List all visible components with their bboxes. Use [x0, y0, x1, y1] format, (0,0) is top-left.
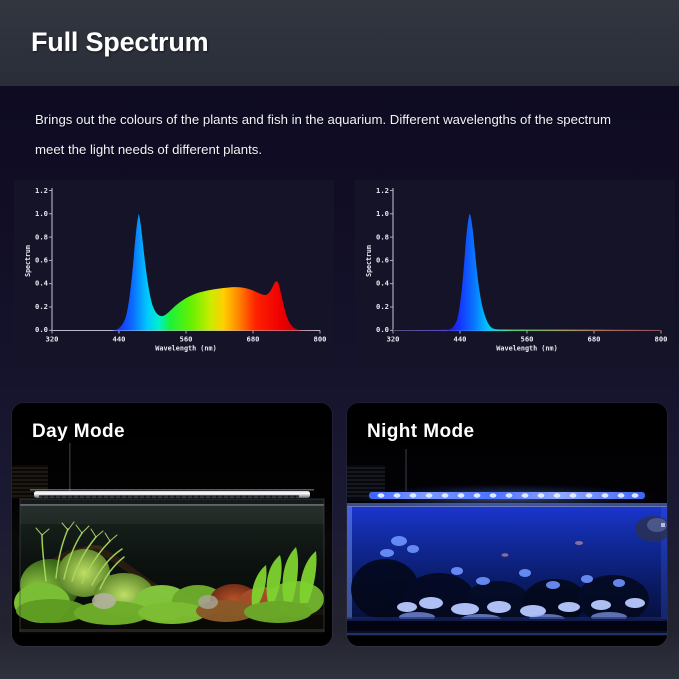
svg-text:0.8: 0.8	[376, 232, 389, 241]
svg-text:0.2: 0.2	[376, 302, 389, 311]
spectrum-chart-night-svg: 1.2 1.0 0.8 0.6 0.4 0.2 0.0 Spectrum	[355, 180, 675, 370]
product-feature-page: Full Spectrum Brings out the colours of …	[0, 0, 679, 679]
day-mode-label: Day Mode	[32, 421, 125, 443]
svg-text:0.6: 0.6	[376, 256, 389, 265]
svg-text:560: 560	[521, 335, 534, 344]
spectrum-chart-night: 1.2 1.0 0.8 0.6 0.4 0.2 0.0 Spectrum	[355, 180, 675, 370]
svg-text:800: 800	[655, 335, 668, 344]
svg-text:440: 440	[454, 335, 467, 344]
day-mode-photo: Day Mode	[12, 403, 332, 646]
night-mode-label: Night Mode	[367, 421, 474, 443]
svg-text:320: 320	[46, 335, 59, 344]
svg-text:560: 560	[180, 335, 193, 344]
svg-text:0.2: 0.2	[35, 302, 48, 311]
svg-text:440: 440	[113, 335, 126, 344]
svg-text:1.2: 1.2	[376, 186, 389, 195]
svg-text:0.0: 0.0	[376, 325, 389, 334]
night-mode-photo: Night Mode	[347, 403, 667, 646]
intro-paragraph: Brings out the colours of the plants and…	[35, 105, 635, 165]
svg-text:680: 680	[588, 335, 601, 344]
page-title: Full Spectrum	[31, 27, 208, 58]
mode-photos-row: Day Mode	[0, 403, 679, 648]
svg-text:680: 680	[247, 335, 260, 344]
svg-text:0.6: 0.6	[35, 256, 48, 265]
spectrum-chart-day-svg: 1.2 1.0 0.8 0.6 0.4 0.2 0.0 Spectrum	[14, 180, 334, 370]
content-panel: Brings out the colours of the plants and…	[0, 86, 679, 679]
svg-text:Wavelength (nm): Wavelength (nm)	[155, 345, 216, 353]
svg-text:0.0: 0.0	[35, 325, 48, 334]
svg-text:1.0: 1.0	[35, 209, 48, 218]
spectrum-charts-row: 1.2 1.0 0.8 0.6 0.4 0.2 0.0 Spectrum	[0, 180, 679, 370]
svg-text:0.4: 0.4	[35, 279, 48, 288]
svg-text:320: 320	[387, 335, 400, 344]
svg-text:1.0: 1.0	[376, 209, 389, 218]
svg-text:Spectrum: Spectrum	[24, 245, 32, 277]
svg-text:0.4: 0.4	[376, 279, 389, 288]
header-band: Full Spectrum	[0, 0, 679, 86]
svg-text:800: 800	[314, 335, 327, 344]
svg-text:0.8: 0.8	[35, 232, 48, 241]
svg-text:Spectrum: Spectrum	[365, 245, 373, 277]
svg-text:Wavelength (nm): Wavelength (nm)	[496, 345, 557, 353]
svg-text:1.2: 1.2	[35, 186, 48, 195]
spectrum-chart-day: 1.2 1.0 0.8 0.6 0.4 0.2 0.0 Spectrum	[14, 180, 334, 370]
